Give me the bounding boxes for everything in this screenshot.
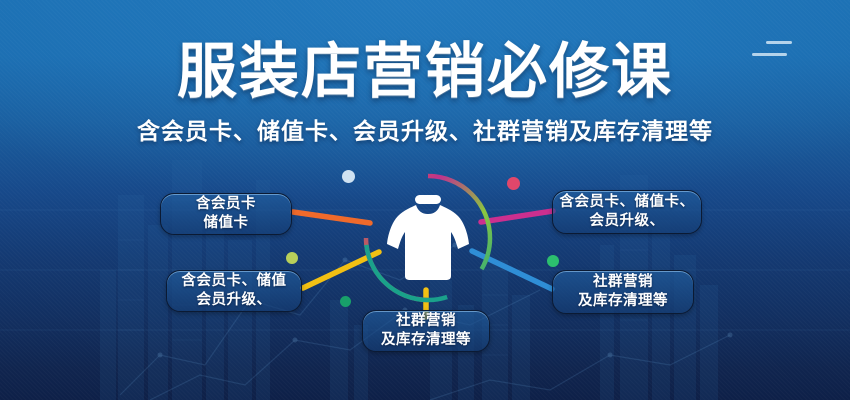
dot-yellow-green [286,252,298,264]
dot-green-small [340,296,351,307]
node-label-line: 会员升级、 [197,291,272,310]
node-label-bottom[interactable]: 社群营销 及库存清理等 [362,310,490,352]
node-label-line: 含会员卡、储值卡、 [560,193,695,212]
node-label-line: 储值卡 [204,214,249,233]
sweater-shirt-icon [386,192,470,284]
dot-green-right [547,255,559,267]
node-label-left-top[interactable]: 含会员卡 储值卡 [160,193,292,235]
node-label-line: 含会员卡、储值 [182,272,287,291]
marketing-banner: 服装店营销必修课 含会员卡、储值卡、会员升级、社群营销及库存清理等 [0,0,850,400]
node-label-line: 会员升级、 [590,212,665,231]
node-label-right-bottom[interactable]: 社群营销 及库存清理等 [552,270,694,314]
node-label-line: 及库存清理等 [381,331,471,350]
dot-light-blue [342,170,355,183]
dot-pink [507,177,520,190]
node-label-line: 含会员卡 [196,195,256,214]
node-label-line: 社群营销 [593,273,653,292]
node-label-line: 社群营销 [396,312,456,331]
node-label-right-top[interactable]: 含会员卡、储值卡、 会员升级、 [552,190,702,234]
node-label-line: 及库存清理等 [578,292,668,311]
node-label-left-bottom[interactable]: 含会员卡、储值 会员升级、 [166,270,302,312]
